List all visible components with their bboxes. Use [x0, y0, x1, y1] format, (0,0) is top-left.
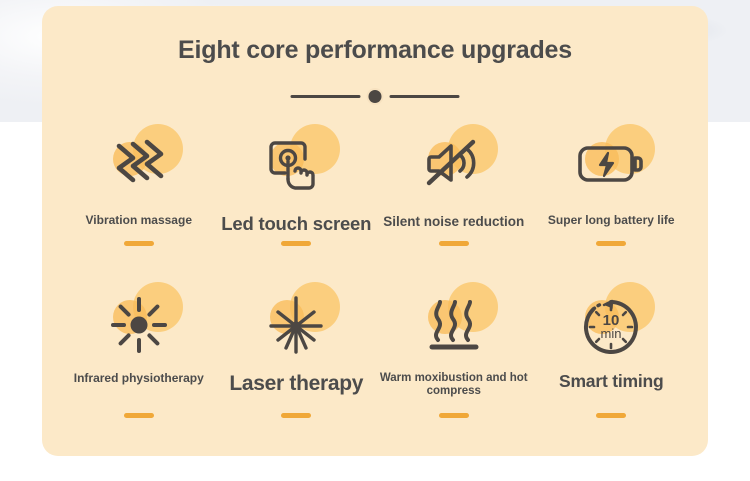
feature-label: Led touch screen — [219, 214, 373, 235]
label-wrap: Vibration massage — [60, 214, 218, 244]
touch-screen-hand-icon — [267, 138, 325, 194]
icon-stage — [402, 124, 506, 210]
muted-speaker-icon — [425, 138, 483, 190]
feature-item-super-long-battery-life[interactable]: Super long battery life — [533, 124, 691, 282]
vibration-waves-icon — [111, 138, 167, 192]
label-underline — [596, 241, 626, 246]
icon-stage — [244, 282, 348, 368]
feature-label: Laser therapy — [227, 372, 365, 396]
feature-label: Silent noise reduction — [381, 214, 526, 229]
label-underline — [124, 413, 154, 418]
label-underline — [281, 241, 311, 246]
feature-grid: Vibration massage — [60, 124, 690, 440]
page-root: Eight core performance upgrades — [0, 0, 750, 481]
icon-stage — [87, 282, 191, 368]
label-underline — [596, 413, 626, 418]
feature-item-infrared-physiotherapy[interactable]: Infrared physiotherapy — [60, 282, 218, 440]
feature-label: Smart timing — [557, 372, 666, 392]
feature-label: Super long battery life — [546, 214, 677, 227]
battery-charging-icon — [577, 144, 645, 190]
icon-stage — [559, 124, 663, 210]
label-underline — [281, 413, 311, 418]
icon-stage: 10 min — [559, 282, 663, 368]
label-wrap: Laser therapy — [218, 372, 376, 402]
feature-item-laser-therapy[interactable]: Laser therapy — [218, 282, 376, 440]
label-underline — [439, 413, 469, 418]
label-wrap: Warm moxibustion and hot compress — [375, 372, 533, 402]
label-wrap: Super long battery life — [533, 214, 691, 244]
laser-burst-icon — [265, 296, 327, 356]
icon-stage — [87, 124, 191, 210]
label-underline — [124, 241, 154, 246]
heat-waves-icon — [426, 296, 482, 352]
feature-label: Infrared physiotherapy — [72, 372, 206, 385]
feature-item-warm-moxibustion[interactable]: Warm moxibustion and hot compress — [375, 282, 533, 440]
feature-label: Vibration massage — [84, 214, 195, 227]
feature-item-led-touch-screen[interactable]: Led touch screen — [218, 124, 376, 282]
feature-item-vibration-massage[interactable]: Vibration massage — [60, 124, 218, 282]
divider-dot — [369, 90, 382, 103]
timer-clock-icon: 10 min — [580, 296, 642, 358]
icon-stage — [402, 282, 506, 368]
feature-card: Eight core performance upgrades — [42, 6, 708, 456]
page-title: Eight core performance upgrades — [42, 36, 708, 65]
sun-rays-icon — [110, 296, 168, 354]
feature-item-smart-timing[interactable]: 10 min Smart timing — [533, 282, 691, 440]
icon-stage — [244, 124, 348, 210]
label-wrap: Smart timing — [533, 372, 691, 402]
label-wrap: Led touch screen — [218, 214, 376, 244]
label-underline — [439, 241, 469, 246]
divider-line-left — [291, 95, 361, 98]
timer-unit-text: min — [601, 326, 622, 341]
label-wrap: Silent noise reduction — [375, 214, 533, 244]
title-divider — [291, 90, 460, 103]
label-wrap: Infrared physiotherapy — [60, 372, 218, 402]
feature-item-silent-noise-reduction[interactable]: Silent noise reduction — [375, 124, 533, 282]
divider-line-right — [390, 95, 460, 98]
feature-label: Warm moxibustion and hot compress — [375, 372, 533, 398]
